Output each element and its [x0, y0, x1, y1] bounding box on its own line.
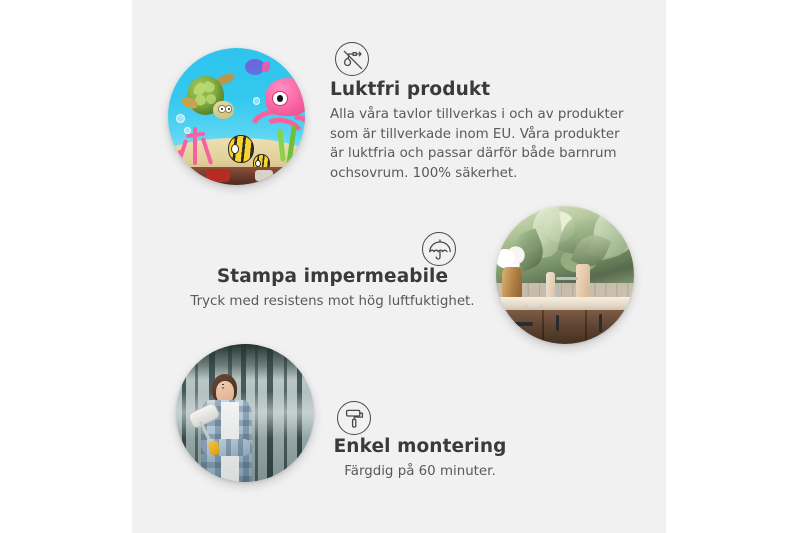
feature-image-underwater	[168, 48, 305, 185]
umbrella-icon	[422, 232, 456, 266]
paint-roller-icon	[337, 401, 371, 435]
feature-body-3: Färgdig på 60 minuter.	[305, 462, 535, 482]
feature-text-3: Enkel montering Färgdig på 60 minuter.	[305, 435, 535, 482]
feature-title-2: Stampa impermeabile	[185, 265, 480, 288]
no-odor-spray-icon	[335, 42, 369, 76]
feature-title-1: Luktfri produkt	[330, 78, 630, 101]
feature-text-1: Luktfri produkt Alla våra tavlor tillver…	[330, 78, 630, 183]
feature-text-2: Stampa impermeabile Tryck med resistens …	[185, 265, 480, 312]
feature-image-woman-roller	[176, 344, 314, 482]
promo-feature-graphic: Luktfri produkt Alla våra tavlor tillver…	[0, 0, 800, 533]
feature-body-1: Alla våra tavlor tillverkas i och av pro…	[330, 105, 630, 183]
feature-body-2: Tryck med resistens mot hög luftfuktighe…	[185, 292, 480, 312]
feature-image-bathroom	[496, 206, 634, 344]
feature-title-3: Enkel montering	[305, 435, 535, 458]
